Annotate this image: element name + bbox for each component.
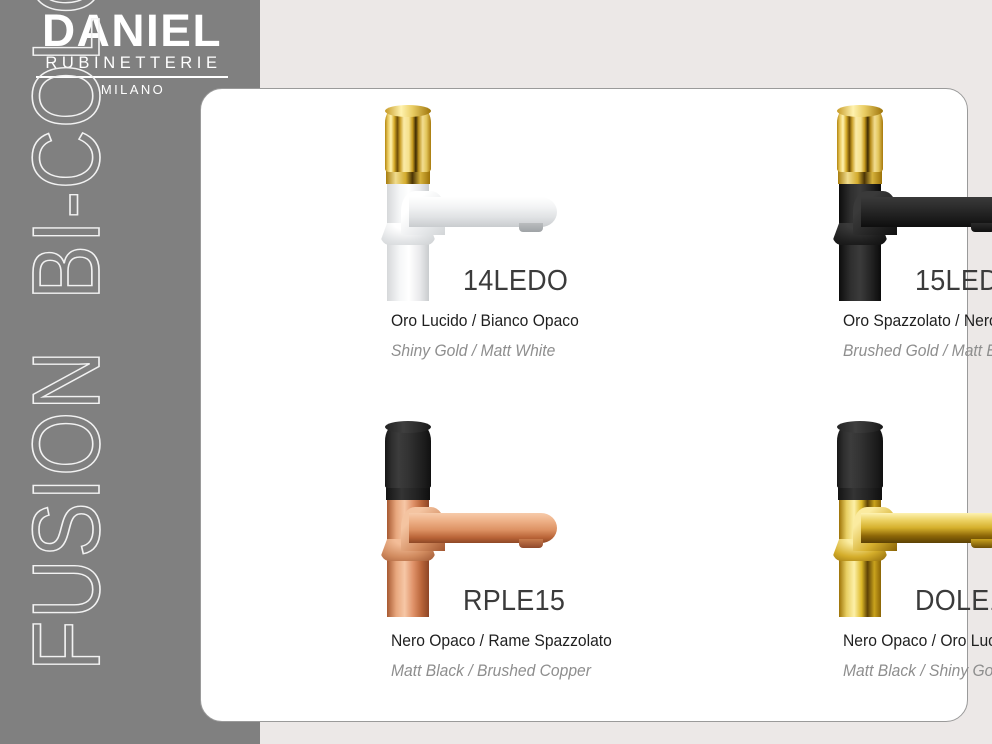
logo-divider [36,76,228,78]
brand-logo: DANIEL RUBINETTERIE MILANO [36,8,228,96]
handle-top-cap [837,421,883,433]
product-code: 15LEDP [915,265,992,298]
product-code: RPLE15 [463,585,565,618]
collection-title-line-1: FUSION [19,349,115,671]
product-code: 14LEDO [463,265,568,298]
handle-top-cap [385,421,431,433]
product-grid: 14LEDO Oro Lucido / Bianco Opaco Shiny G… [201,89,967,721]
faucet-aerator [519,223,543,232]
collection-title: FUSION BI-COLOR [19,201,115,671]
handle-top-cap [837,105,883,117]
faucet-aerator [971,223,992,232]
product-code: DOLE15 [915,585,992,618]
faucet-handle [385,109,431,172]
brand-subtitle: RUBINETTERIE [36,55,228,72]
product-description-en: Shiny Gold / Matt White [391,341,555,361]
faucet-handle [837,109,883,172]
product-cell-15LEDP[interactable]: 15LEDP Oro Spazzolato / Nero Opaco Brush… [609,89,992,405]
faucet-aerator [519,539,543,548]
product-cell-14LEDO[interactable]: 14LEDO Oro Lucido / Bianco Opaco Shiny G… [201,89,609,405]
product-description-en: Brushed Gold / Matt Black [843,341,992,361]
brand-city: MILANO [36,83,228,96]
product-description-en: Matt Black / Brushed Copper [391,661,591,681]
product-description-it: Nero Opaco / Rame Spazzolato [391,631,612,651]
product-description-it: Oro Spazzolato / Nero Opaco [843,311,992,331]
brand-name: DANIEL [34,8,230,53]
product-description-it: Nero Opaco / Oro Lucido [843,631,992,651]
product-description-en: Matt Black / Shiny Gold [843,661,992,681]
faucet-aerator [971,539,992,548]
handle-top-cap [385,105,431,117]
product-cell-RPLE15[interactable]: RPLE15 Nero Opaco / Rame Spazzolato Matt… [201,405,609,721]
faucet-handle [837,425,883,488]
product-description-it: Oro Lucido / Bianco Opaco [391,311,579,331]
faucet-handle [385,425,431,488]
product-card: 14LEDO Oro Lucido / Bianco Opaco Shiny G… [200,88,968,722]
product-cell-DOLE15[interactable]: DOLE15 Nero Opaco / Oro Lucido Matt Blac… [609,405,992,721]
